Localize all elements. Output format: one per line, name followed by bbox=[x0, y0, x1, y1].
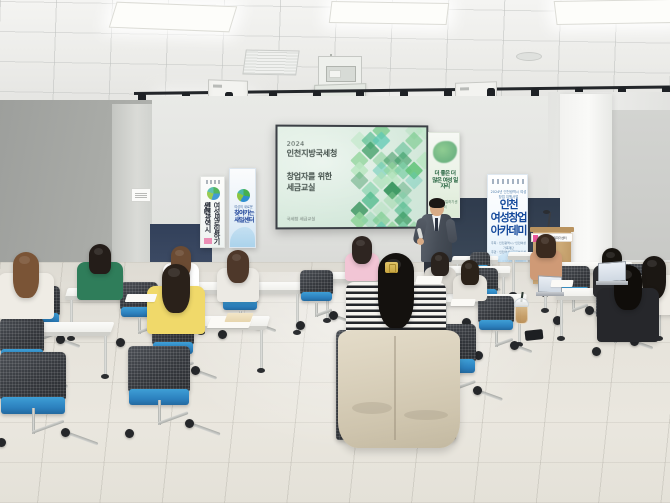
slide-text-block: 2024 인천지방국세청 창업자를 위한 세금교실 bbox=[287, 140, 337, 193]
slide-mosaic-graphic bbox=[355, 127, 426, 227]
slide-footer: 국세청 세금교실 bbox=[287, 216, 316, 222]
hvac-vent-icon bbox=[242, 50, 299, 76]
banner-title: 인천 여성창업 아카데미 bbox=[490, 199, 527, 238]
presenter-tie bbox=[435, 218, 438, 231]
iced-coffee-cup bbox=[514, 298, 529, 324]
cup-body bbox=[515, 305, 528, 324]
banner-footer-line-1: 주최 : 인천광역시 / 인천여성가족재단 bbox=[491, 241, 526, 250]
seminar-room-photo: 2024 인천지방국세청 창업자를 위한 세금교실 국세청 세금교실 여성새로일… bbox=[0, 0, 670, 503]
jacket-fold bbox=[352, 402, 392, 414]
attendee-hair-highlight bbox=[175, 250, 184, 257]
chair-caster bbox=[116, 338, 125, 347]
banner-title-line-2: 여성창업 bbox=[490, 212, 527, 225]
podium-microphone-icon bbox=[543, 210, 550, 214]
handout-booklet bbox=[224, 313, 253, 322]
slide-organization: 인천지방국세청 bbox=[287, 149, 337, 159]
banner-logo-strip bbox=[492, 179, 525, 184]
globe-logo-icon bbox=[237, 189, 250, 202]
attendee-hair-highlight bbox=[19, 256, 30, 264]
chair-caster bbox=[473, 386, 482, 395]
table-leg bbox=[512, 260, 515, 294]
table-leg bbox=[560, 300, 563, 338]
banner-blob-graphic bbox=[433, 141, 457, 163]
banner-logo-strip bbox=[206, 180, 221, 184]
handout-paper bbox=[415, 276, 443, 284]
table-caster bbox=[101, 374, 109, 379]
chair-caster bbox=[510, 341, 519, 350]
globe-logo-icon bbox=[207, 187, 220, 200]
table-leg bbox=[104, 336, 107, 376]
projection-screen: 2024 인천지방국세청 창업자를 위한 세금교실 국세청 세금교실 bbox=[275, 125, 428, 230]
banner-vertical-text-2: 인천광역시 bbox=[203, 202, 213, 232]
laptop-screen bbox=[598, 261, 626, 283]
projector-icon bbox=[326, 66, 356, 82]
jacket-fold bbox=[404, 410, 448, 420]
banner-title: 더 좋은 더 많은 여성 일자리 bbox=[432, 171, 458, 191]
table-caster bbox=[557, 336, 565, 341]
slide-year: 2024 bbox=[287, 140, 337, 149]
ceiling-panel-light bbox=[554, 0, 670, 25]
ceiling-speaker-icon bbox=[516, 52, 542, 61]
laptop-base bbox=[536, 292, 564, 296]
chair-seat bbox=[301, 292, 332, 301]
attendee-hair-highlight bbox=[232, 254, 241, 261]
ceiling-panel-light bbox=[329, 1, 449, 25]
draped-jacket bbox=[338, 330, 460, 448]
handout-paper bbox=[450, 299, 475, 306]
handout-paper bbox=[125, 294, 158, 302]
laptop-base bbox=[596, 281, 628, 285]
table-caster bbox=[293, 330, 301, 335]
smartphone bbox=[525, 329, 544, 341]
chair-backrest bbox=[0, 352, 66, 400]
banner-wave-graphic bbox=[230, 227, 255, 247]
slide-subtitle-2: 세금교실 bbox=[287, 183, 337, 193]
banner-mobile-center: 여성의 새로운 시작 찾아가는 새일센터 bbox=[229, 168, 256, 248]
slide-subtitle-1: 창업자를 위한 bbox=[287, 172, 337, 182]
presenter-hair bbox=[429, 198, 445, 208]
chair-backrest bbox=[128, 346, 190, 392]
chair-caster bbox=[592, 347, 601, 356]
ceiling-panel-light bbox=[109, 2, 238, 33]
table-caster bbox=[257, 368, 265, 373]
chair-caster bbox=[125, 429, 134, 438]
table-leg bbox=[260, 330, 263, 370]
banner-title-line-3: 아카데미 bbox=[490, 225, 527, 238]
attendee-hair-highlight bbox=[168, 268, 180, 277]
chair-caster bbox=[218, 330, 227, 339]
chair-caster bbox=[191, 366, 200, 375]
banner-women-center: 여성새로일하기센터 인천광역시 bbox=[200, 176, 225, 248]
chair-seat bbox=[479, 320, 513, 330]
chair-caster bbox=[56, 335, 65, 344]
chair-backrest bbox=[0, 318, 44, 352]
attendee-hair-highlight bbox=[94, 248, 104, 255]
chair-caster bbox=[329, 311, 338, 320]
table-caster bbox=[541, 308, 549, 313]
attendee-hair-highlight bbox=[356, 240, 365, 247]
far-right-wall bbox=[612, 110, 670, 260]
attendee-hair-highlight bbox=[541, 237, 549, 243]
cup-dome-lid bbox=[514, 298, 529, 307]
attendee-hair-highlight bbox=[606, 252, 615, 259]
podium-top-surface bbox=[530, 227, 574, 232]
presenter-hand bbox=[417, 238, 424, 245]
hair-clip-icon bbox=[385, 262, 398, 273]
wall-notice-sign bbox=[131, 188, 151, 202]
banner-accent-tag bbox=[204, 238, 212, 244]
handout-paper bbox=[550, 280, 573, 287]
banner-title: 찾아가는 새일센터 bbox=[233, 210, 255, 224]
